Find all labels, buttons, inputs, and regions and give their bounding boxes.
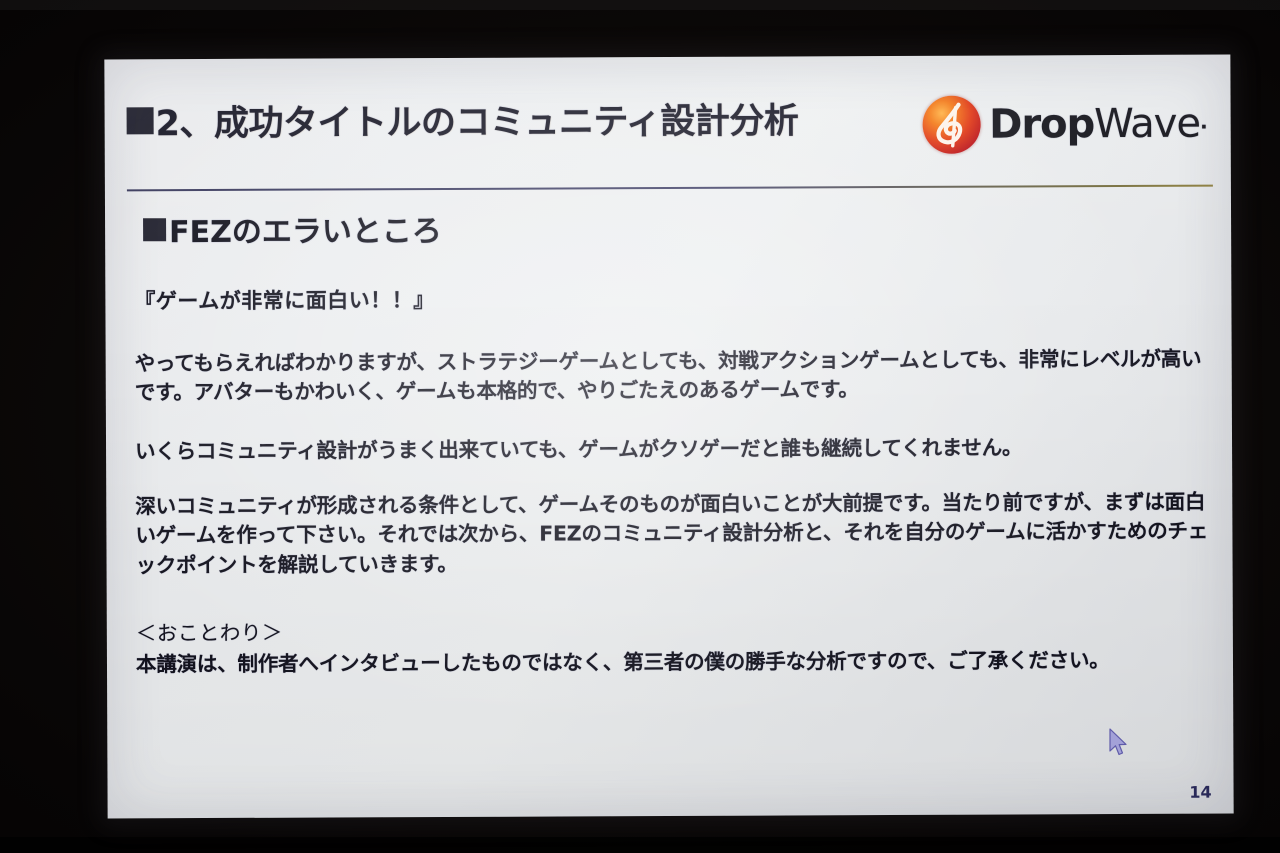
floor-band [0, 837, 1280, 853]
notice-title: ＜おことわり＞ [136, 611, 1213, 646]
section-heading: FEZのエラいところ [143, 203, 1211, 252]
slide-body: FEZのエラいところ 『ゲームが非常に面白い！！』 やってもらえればわかりますが… [131, 203, 1214, 791]
dropwave-logo: DropWave· [922, 95, 1207, 154]
dropwave-flame-icon [922, 96, 980, 154]
body-paragraph-3: 深いコミュニティが形成される条件として、ゲームそのものが面白いことが大前提です。… [135, 488, 1212, 580]
filled-square-icon [143, 218, 166, 241]
logo-trailing-dot: · [1200, 115, 1207, 139]
projected-slide-photo: 2、成功タイトルのコミュニティ設計分析 DropWave· [0, 0, 1280, 853]
dropwave-wordmark: DropWave· [989, 104, 1207, 145]
presentation-slide: 2、成功タイトルのコミュニティ設計分析 DropWave· [104, 55, 1233, 819]
page-number: 14 [1189, 783, 1211, 802]
notice-body: 本講演は、制作者へインタビューしたものではなく、第三者の僕の勝手な分析ですので、… [136, 645, 1213, 679]
title-divider [127, 185, 1213, 192]
logo-word-wave: Wave [1094, 101, 1200, 147]
section-heading-text: FEZのエラいところ [169, 206, 442, 251]
logo-word-drop: Drop [989, 101, 1094, 147]
filled-square-icon [127, 107, 154, 134]
body-paragraph-1: やってもらえればわかりますが、ストラテジーゲームとしても、対戦アクションゲームと… [135, 345, 1212, 408]
body-paragraph-2: いくらコミュニティ設計がうまく出来ていても、ゲームがクソゲーだと誰も継続してくれ… [135, 433, 1212, 467]
page-title-text: 2、成功タイトルのコミュニティ設計分析 [156, 92, 799, 146]
arrow-pointer-icon [1108, 728, 1130, 760]
slide-header: 2、成功タイトルのコミュニティ設計分析 DropWave· [127, 91, 1213, 206]
highlight-quote: 『ゲームが非常に面白い！！』 [134, 281, 1211, 316]
notice-block: ＜おことわり＞ 本講演は、制作者へインタビューしたものではなく、第三者の僕の勝手… [136, 611, 1213, 679]
ceiling-band [0, 0, 1280, 10]
page-title: 2、成功タイトルのコミュニティ設計分析 [127, 92, 799, 146]
